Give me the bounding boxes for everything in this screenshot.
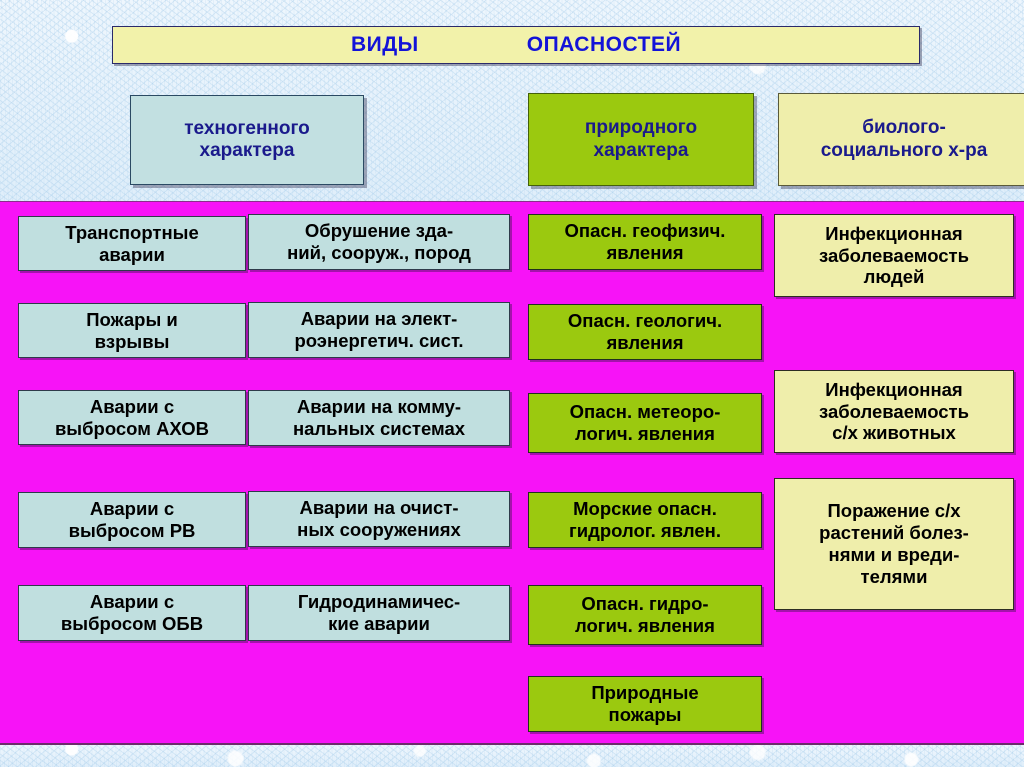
item-transportnye-avarii: Транспортные аварии	[18, 216, 246, 271]
item-infekcionnaya-lyudey: Инфекционная заболеваемость людей	[774, 214, 1014, 297]
item-avarii-obv: Аварии с выбросом ОБВ	[18, 585, 246, 641]
item-pozhary-i-vzryvy: Пожары и взрывы	[18, 303, 246, 358]
slide-title: ВИДЫОПАСНОСТЕЙ	[112, 26, 920, 64]
item-avarii-ochistnye: Аварии на очист- ных сооружениях	[248, 491, 510, 547]
item-obrushenie-zdaniy: Обрушение зда- ний, сооруж., пород	[248, 214, 510, 270]
item-avarii-kommunalnye: Аварии на комму- нальных системах	[248, 390, 510, 446]
item-infekcionnaya-zhivotnyh: Инфекционная заболеваемость с/х животных	[774, 370, 1014, 453]
category-header-tehnogennogo: техногенного характера	[130, 95, 364, 185]
item-gidrodinamicheskie-avarii: Гидродинамичес- кие аварии	[248, 585, 510, 641]
item-avarii-rv: Аварии с выбросом РВ	[18, 492, 246, 548]
item-opasn-geofizich: Опасн. геофизич. явления	[528, 214, 762, 270]
item-avarii-ahov: Аварии с выбросом АХОВ	[18, 390, 246, 445]
item-porazhenie-rasteniy: Поражение с/х растений болез- нями и вре…	[774, 478, 1014, 610]
item-prirodnye-pozhary: Природные пожары	[528, 676, 762, 732]
item-morskie-gidrolog: Морские опасн. гидролог. явлен.	[528, 492, 762, 548]
slide-canvas: ВИДЫОПАСНОСТЕЙ техногенного характера пр…	[0, 0, 1024, 767]
background-texture-bottom	[0, 745, 1024, 767]
item-opasn-geologich: Опасн. геологич. явления	[528, 304, 762, 360]
category-header-prirodnogo: природного характера	[528, 93, 754, 186]
item-opasn-meteorologich: Опасн. метеоро- логич. явления	[528, 393, 762, 453]
item-avarii-elektroenergetich: Аварии на элект- роэнергетич. сист.	[248, 302, 510, 358]
category-header-biologo-socialnogo: биолого- социального х-ра	[778, 93, 1024, 186]
title-word-vidy: ВИДЫ	[351, 33, 419, 58]
item-opasn-gidrologich: Опасн. гидро- логич. явления	[528, 585, 762, 645]
title-word-opasnostey: ОПАСНОСТЕЙ	[527, 33, 681, 58]
